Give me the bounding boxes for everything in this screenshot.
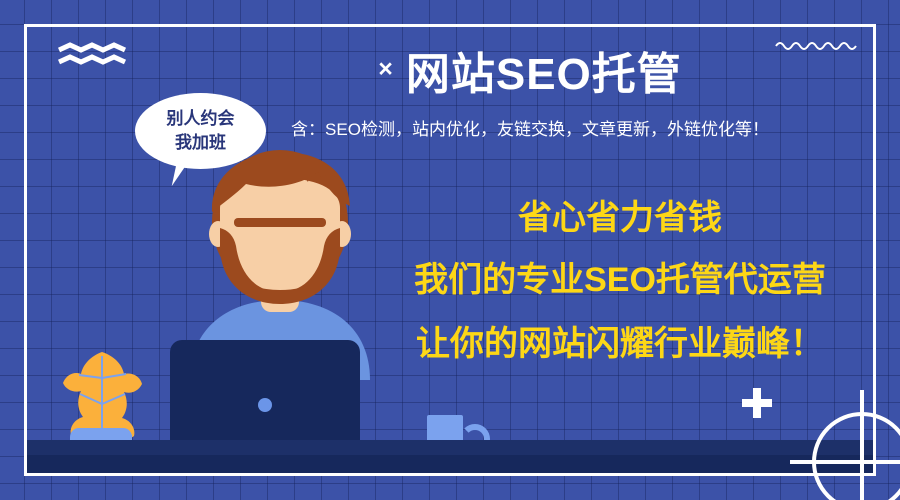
laptop-logo-icon <box>258 398 272 412</box>
poster-canvas: ×网站SEO托管 含：SEO检测，站内优化，友链交换，文章更新，外链优化等！ 省… <box>0 0 900 500</box>
desk-edge <box>27 455 873 473</box>
speech-bubble: 别人约会 我加班 <box>135 93 266 169</box>
slogan-line-2: 我们的专业SEO托管代运营 <box>370 258 870 302</box>
speech-bubble-line-2: 我加班 <box>175 131 226 155</box>
double-wave-icon <box>58 42 128 68</box>
speech-bubble-line-1: 别人约会 <box>167 107 235 131</box>
desk-surface <box>27 440 873 456</box>
corner-circle-cross-icon <box>790 390 900 500</box>
title-text: 网站SEO托管 <box>406 50 682 99</box>
slogan-line-1: 省心省力省钱 <box>380 196 860 240</box>
plus-icon <box>742 388 772 418</box>
page-subtitle: 含：SEO检测，站内优化，友链交换，文章更新，外链优化等！ <box>250 118 810 142</box>
page-title: ×网站SEO托管 <box>300 44 760 100</box>
x-mark-icon: × <box>378 55 394 83</box>
slogan-line-3: 让你的网站闪耀行业巅峰！ <box>370 322 870 366</box>
thin-wave-icon <box>775 38 861 52</box>
